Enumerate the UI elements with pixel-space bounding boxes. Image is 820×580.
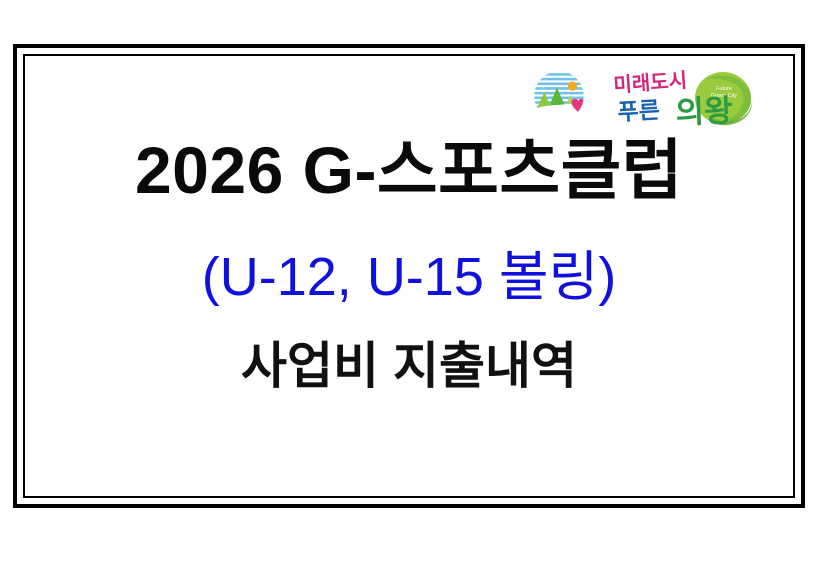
logo-row: Future Green City 미래도시 푸른 의왕 — [533, 70, 767, 132]
brand-korean-line2-main: 의왕 — [675, 93, 733, 130]
poster-tagline: 사업비 지출내역 — [25, 338, 793, 396]
nature-circle-emblem-icon — [533, 70, 585, 122]
poster-subtitle: (U-12, U-15 볼링) — [25, 246, 793, 308]
poster-main-title: 2026 G-스포츠클럽 — [25, 134, 793, 208]
brand-korean-line2-prefix: 푸른 — [617, 97, 661, 125]
poster-inner-border: Future Green City 미래도시 푸른 의왕 2026 G-스포츠클… — [23, 54, 795, 498]
brand-korean-line1: 미래도시 — [613, 70, 688, 97]
poster-frame: Future Green City 미래도시 푸른 의왕 2026 G-스포츠클… — [13, 44, 805, 508]
brand-english-line1: Future — [716, 86, 732, 92]
poster-text-block: 2026 G-스포츠클럽 (U-12, U-15 볼링) 사업비 지출내역 — [25, 134, 793, 396]
uiwang-city-brand-logo: Future Green City 미래도시 푸른 의왕 — [607, 70, 767, 132]
